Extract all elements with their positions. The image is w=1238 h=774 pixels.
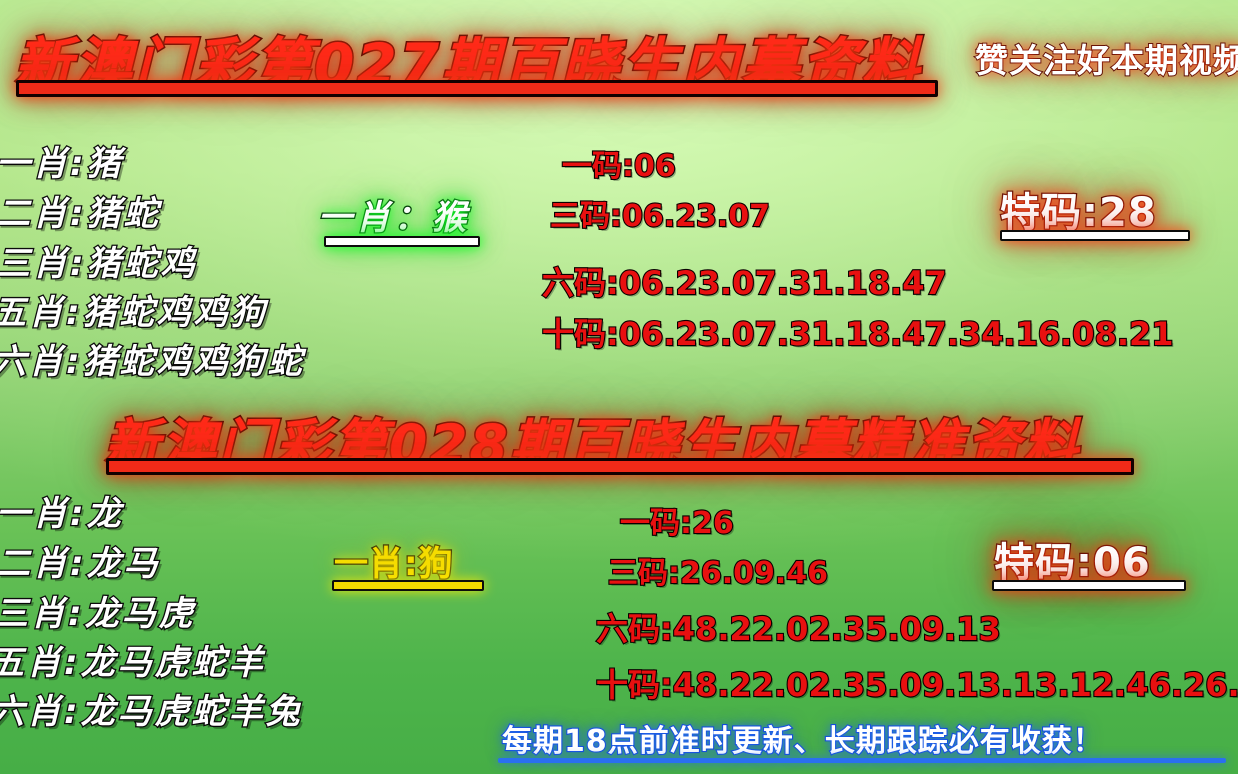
code-line-six: 六码:48.22.02.35.09.13 [596,604,1001,650]
code-line-six: 六码:06.23.07.31.18.47 [542,258,947,304]
zodiac-line: 三肖:龙马虎 [0,586,196,635]
footer-underline [498,758,1226,763]
zodiac-line: 一肖:猪 [0,136,124,185]
zodiac-line: 二肖:猪蛇 [0,186,161,235]
section-title-underline-1 [16,80,938,97]
code-line-ten: 十码:48.22.02.35.09.13.13.12.46.26.03 [596,660,1238,706]
poster-canvas: 新澳门彩第027期百晓生内幕资料 赞关注好本期视频 一肖:猪 二肖:猪蛇 三肖:… [0,0,1238,774]
code-line-ten: 十码:06.23.07.31.18.47.34.16.08.21 [542,309,1174,355]
promo-text: 赞关注好本期视频 [975,34,1238,82]
zodiac-line: 二肖:龙马 [0,536,161,585]
zodiac-line: 三肖:猪蛇鸡 [0,236,198,285]
zodiac-line: 一肖:龙 [0,486,124,535]
code-line-three: 三码:26.09.46 [608,548,828,592]
code-line-one: 一码:26 [620,498,734,542]
one-zodiac-badge-underline-2 [332,580,484,591]
zodiac-line: 六肖:猪蛇鸡鸡狗蛇 [0,334,305,383]
footer-note: 每期18点前准时更新、长期跟踪必有收获！ [502,716,1104,760]
zodiac-line: 五肖:猪蛇鸡鸡狗 [0,285,268,334]
section-title-underline-2 [106,458,1134,475]
code-line-one: 一码:06 [562,141,676,185]
special-code-underline-1 [1000,230,1190,241]
special-code-underline-2 [992,580,1186,591]
zodiac-line: 六肖:龙马虎蛇羊兔 [0,684,303,733]
zodiac-line: 五肖:龙马虎蛇羊 [0,635,266,684]
one-zodiac-badge-underline-1 [324,236,480,247]
code-line-three: 三码:06.23.07 [550,191,770,235]
one-zodiac-badge-2: 一肖:狗 [334,536,454,585]
one-zodiac-badge-1: 一肖：猴 [318,190,470,239]
